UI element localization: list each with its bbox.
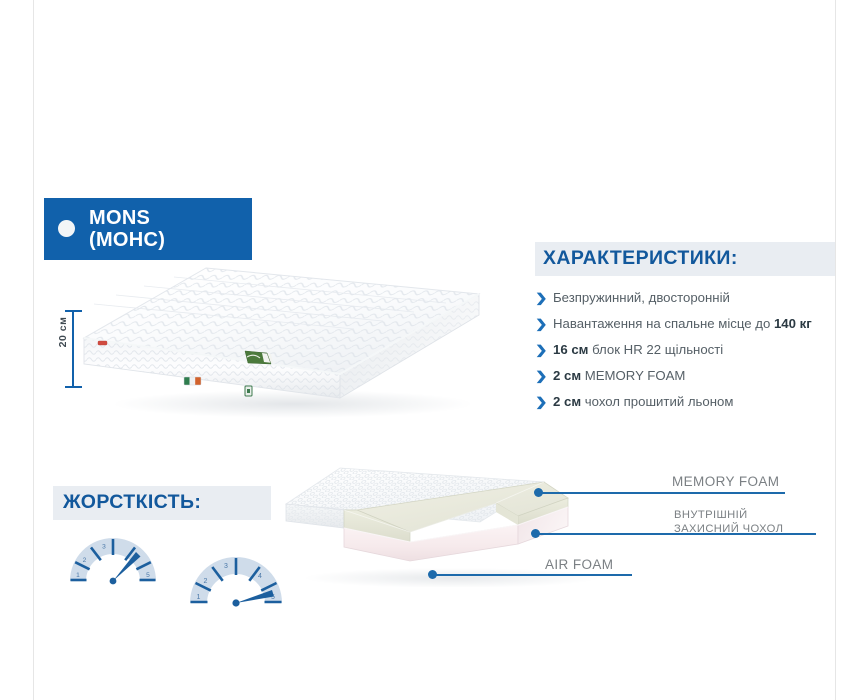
memory-foam-leader-dot: [534, 488, 543, 497]
gauge-tick-4: 4: [258, 573, 262, 580]
characteristics-item-text: 16 см блок HR 22 щільності: [553, 342, 723, 359]
characteristics-list: ❯ Безпружинний, двосторонній ❯ Навантаже…: [535, 290, 835, 411]
gauge-tick-3: 3: [102, 544, 106, 551]
air-foam-label: AIR FOAM: [545, 557, 613, 572]
characteristics-item-text: 2 см чохол прошитий льоном: [553, 394, 733, 411]
product-name: MONS (МОНС): [89, 207, 165, 252]
characteristics-item: ❯ Навантаження на спальне місце до 140 к…: [535, 316, 835, 333]
chevron-right-icon: ❯: [535, 291, 558, 306]
mattress-tag-green: [245, 386, 252, 396]
firmness-gauge-side-b: 1 2 3 4 5: [186, 552, 286, 608]
gauge-tick-5: 5: [146, 572, 150, 579]
inner-cover-label-line-2: ЗАХИСНИЙ ЧОХОЛ: [674, 522, 783, 536]
inner-cover-label: ВНУТРІШНІЙ ЗАХИСНИЙ ЧОХОЛ: [674, 508, 783, 536]
infographic-page: MONS (МОНС) 20 см: [0, 0, 859, 700]
gauge-tick-1: 1: [76, 572, 80, 579]
characteristics-item: ❯ 2 см чохол прошитий льоном: [535, 394, 835, 411]
dimension-label: 20 см: [57, 309, 69, 355]
chevron-right-icon: ❯: [535, 395, 558, 410]
dimension-line: [72, 310, 74, 388]
chevron-right-icon: ❯: [535, 369, 558, 384]
chevron-right-icon: ❯: [535, 317, 558, 332]
firmness-gauge-side-a: 1 2 3 4 5: [66, 533, 160, 585]
gauge-tick-3: 3: [224, 563, 228, 570]
product-name-banner: MONS (МОНС): [44, 198, 252, 260]
mattress-product-image: [78, 258, 488, 420]
characteristics-panel: ХАРАКТЕРИСТИКИ: ❯ Безпружинний, двосторо…: [535, 242, 835, 420]
product-name-line-2: (МОНС): [89, 229, 165, 251]
page-border-right: [835, 0, 836, 700]
page-border-left: [33, 0, 34, 700]
characteristics-item-text: 2 см MEMORY FOAM: [553, 368, 685, 385]
gauge-tick-1: 1: [197, 594, 201, 601]
circle-bullet-icon: [58, 220, 75, 237]
gauge-tick-2: 2: [83, 557, 87, 564]
inner-cover-label-line-1: ВНУТРІШНІЙ: [674, 508, 783, 522]
characteristics-heading: ХАРАКТЕРИСТИКИ:: [535, 242, 835, 276]
characteristics-item: ❯ 2 см MEMORY FOAM: [535, 368, 835, 385]
air-foam-leader-line: [432, 574, 632, 576]
firmness-panel: ЖОРСТКІСТЬ:: [53, 486, 271, 520]
firmness-heading: ЖОРСТКІСТЬ:: [53, 486, 271, 520]
memory-foam-leader-line: [538, 492, 785, 494]
air-foam-leader-dot: [428, 570, 437, 579]
memory-foam-label: MEMORY FOAM: [672, 474, 779, 489]
characteristics-item: ❯ 16 см блок HR 22 щільності: [535, 342, 835, 359]
chevron-right-icon: ❯: [535, 343, 558, 358]
gauge-tick-2: 2: [204, 578, 208, 585]
inner-cover-leader-dot: [531, 529, 540, 538]
characteristics-item-text: Навантаження на спальне місце до 140 кг: [553, 316, 812, 333]
mattress-tag-red: [98, 341, 107, 345]
mattress-tag-tricolor: [184, 377, 201, 385]
characteristics-item: ❯ Безпружинний, двосторонній: [535, 290, 835, 307]
characteristics-item-text: Безпружинний, двосторонній: [553, 290, 730, 307]
product-name-line-1: MONS: [89, 207, 165, 229]
